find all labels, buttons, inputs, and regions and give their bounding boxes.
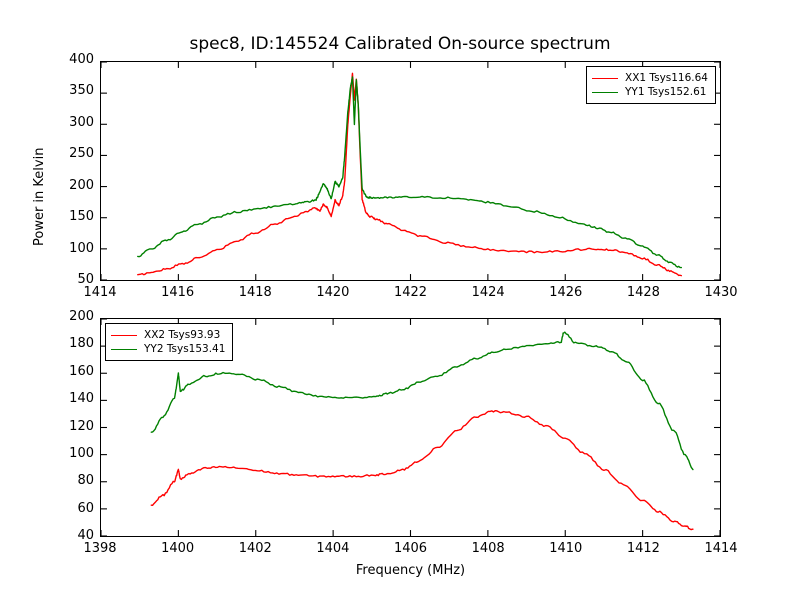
y-tick-label: 60 — [48, 501, 94, 516]
series-line — [151, 411, 693, 530]
x-tick-label: 1400 — [148, 541, 208, 556]
y-tick-label: 150 — [48, 209, 94, 224]
bottom-plot-legend: XX2 Tsys93.93YY2 Tsys153.41 — [105, 323, 233, 361]
legend-entry: XX2 Tsys93.93 — [111, 328, 225, 342]
x-tick-label: 1416 — [148, 285, 208, 300]
x-tick-label: 1398 — [70, 541, 130, 556]
bottom-axis-x-label: Frequency (MHz) — [100, 563, 721, 578]
x-tick-label: 1430 — [691, 285, 751, 300]
legend-color-swatch — [592, 92, 618, 93]
legend-color-swatch — [111, 349, 137, 350]
bottom-plot-axes: XX2 Tsys93.93YY2 Tsys153.41 — [100, 318, 721, 537]
legend-color-swatch — [592, 78, 618, 79]
x-tick-label: 1406 — [381, 541, 441, 556]
y-tick-label: 100 — [48, 446, 94, 461]
legend-entry: YY2 Tsys153.41 — [111, 342, 225, 356]
y-tick-label: 160 — [48, 364, 94, 379]
y-tick-label: 40 — [48, 528, 94, 543]
y-tick-label: 200 — [48, 309, 94, 324]
figure-canvas: spec8, ID:145524 Calibrated On-source sp… — [0, 0, 800, 600]
legend-entry: XX1 Tsys116.64 — [592, 71, 708, 85]
top-plot-legend: XX1 Tsys116.64YY1 Tsys152.61 — [586, 66, 716, 104]
x-tick-label: 1422 — [381, 285, 441, 300]
legend-entry-label: YY1 Tsys152.61 — [625, 85, 706, 99]
x-tick-label: 1408 — [458, 541, 518, 556]
y-tick-label: 400 — [48, 52, 94, 67]
y-tick-label: 120 — [48, 419, 94, 434]
x-tick-label: 1402 — [225, 541, 285, 556]
figure-title: spec8, ID:145524 Calibrated On-source sp… — [0, 34, 800, 54]
y-tick-label: 80 — [48, 473, 94, 488]
x-tick-label: 1420 — [303, 285, 363, 300]
top-plot-axes: XX1 Tsys116.64YY1 Tsys152.61 — [100, 61, 721, 281]
legend-entry-label: XX2 Tsys93.93 — [144, 328, 220, 342]
y-tick-label: 50 — [48, 272, 94, 287]
y-tick-label: 250 — [48, 146, 94, 161]
x-tick-label: 1426 — [536, 285, 596, 300]
x-tick-label: 1428 — [613, 285, 673, 300]
x-tick-label: 1410 — [536, 541, 596, 556]
x-tick-label: 1412 — [613, 541, 673, 556]
x-tick-label: 1414 — [70, 285, 130, 300]
x-tick-label: 1418 — [225, 285, 285, 300]
legend-color-swatch — [111, 335, 137, 336]
legend-entry: YY1 Tsys152.61 — [592, 85, 708, 99]
y-tick-label: 350 — [48, 83, 94, 98]
legend-entry-label: YY2 Tsys153.41 — [144, 342, 225, 356]
y-tick-label: 300 — [48, 115, 94, 130]
series-line — [138, 77, 682, 268]
x-tick-label: 1424 — [458, 285, 518, 300]
y-tick-label: 140 — [48, 391, 94, 406]
x-tick-label: 1414 — [691, 541, 751, 556]
y-tick-label: 200 — [48, 178, 94, 193]
top-axis-y-label: Power in Kelvin — [32, 148, 47, 246]
y-tick-label: 180 — [48, 336, 94, 351]
x-tick-label: 1404 — [303, 541, 363, 556]
legend-entry-label: XX1 Tsys116.64 — [625, 71, 708, 85]
y-tick-label: 100 — [48, 241, 94, 256]
